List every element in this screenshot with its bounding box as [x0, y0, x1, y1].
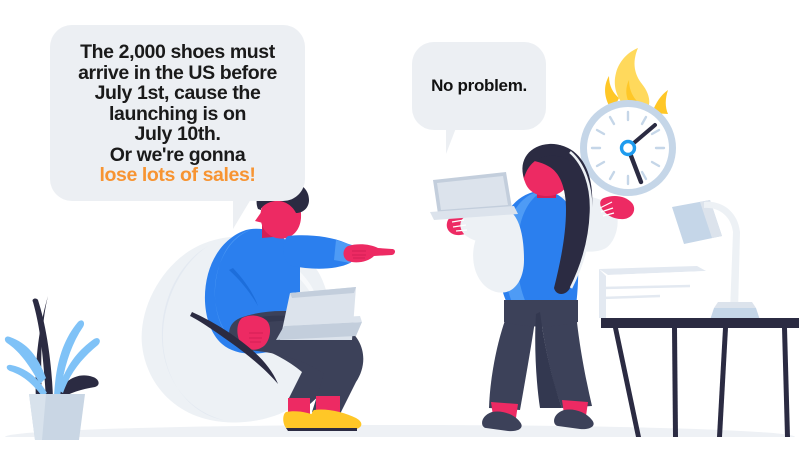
desk-top — [601, 318, 799, 328]
bubble-main-line-4: launching is on — [109, 104, 246, 125]
man-shoe-front — [311, 409, 361, 430]
speech-bubble-main-tail — [233, 199, 259, 229]
speech-bubble-reply-tail — [446, 128, 465, 154]
paper-stack-side — [601, 271, 706, 318]
bubble-main-line-1: The 2,000 shoes must — [80, 42, 275, 63]
desk-area — [599, 200, 799, 437]
floor-strip — [0, 437, 800, 451]
stack-of-papers — [599, 266, 706, 318]
desk-leg-4 — [782, 328, 790, 437]
bubble-main-line-5: July 10th. — [135, 124, 221, 145]
speech-bubble-reply: No problem. — [412, 42, 546, 130]
lamp-arm-lower — [730, 232, 740, 312]
potted-plant — [5, 296, 100, 440]
illustration-scene: The 2,000 shoes must arrive in the US be… — [0, 0, 800, 451]
bubble-reply-line-1: No problem. — [431, 76, 527, 96]
speech-bubble-main: The 2,000 shoes must arrive in the US be… — [50, 25, 305, 201]
man-hand-pointing — [344, 244, 396, 262]
bubble-main-line-2: arrive in the US before — [78, 63, 277, 84]
desk-leg-2 — [672, 328, 678, 437]
bubble-main-line-6: Or we're gonna — [110, 145, 246, 166]
woman-shoe-right — [554, 409, 594, 429]
man-shoe-front-sole — [314, 428, 357, 431]
desk — [601, 318, 799, 437]
paper-stack-edge-left — [599, 269, 606, 318]
clock-center-pin — [622, 142, 635, 155]
lamp-base-top — [714, 302, 756, 308]
bubble-main-line-3: July 1st, cause the — [95, 83, 261, 104]
desk-leg-3 — [717, 328, 728, 437]
bubble-main-line-7-accent: lose lots of sales! — [99, 165, 255, 186]
desk-leg-1 — [613, 328, 641, 437]
burning-wall-clock — [580, 48, 676, 196]
